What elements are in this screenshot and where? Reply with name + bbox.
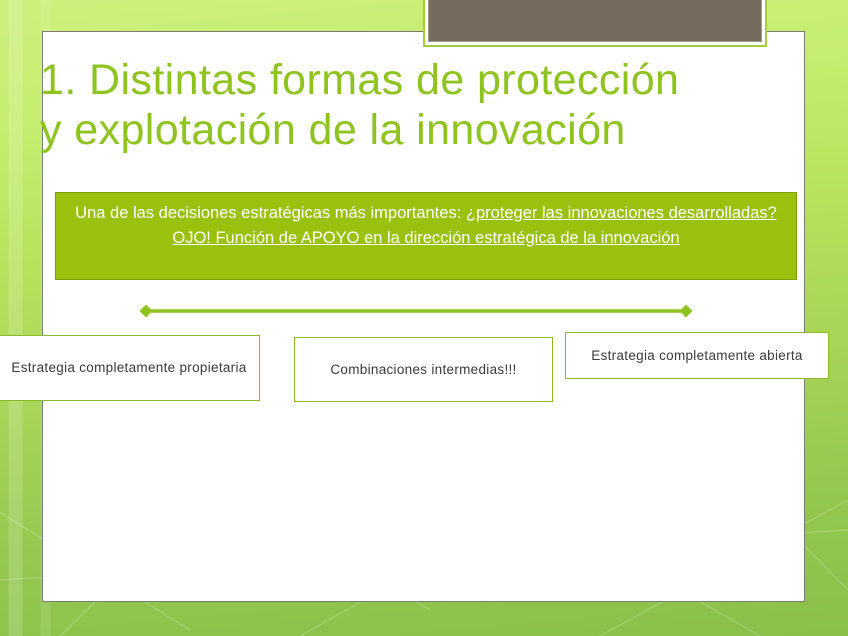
picture-placeholder-frame — [423, 0, 767, 47]
double-diamond-arrow-icon — [138, 303, 694, 319]
page-title: 1. Distintas formas de protección y expl… — [40, 55, 810, 155]
banner-lead-text: Una de las decisiones estratégicas más i… — [75, 204, 466, 222]
node-strategy-open[interactable]: Estrategia completamente abierta — [565, 332, 829, 379]
node-strategy-intermediate[interactable]: Combinaciones intermedias!!! — [294, 337, 553, 402]
slide-canvas: 1. Distintas formas de protección y expl… — [0, 0, 848, 636]
node-strategy-proprietary[interactable]: Estrategia completamente propietaria — [0, 335, 260, 401]
node-label: Estrategia completamente abierta — [591, 347, 802, 365]
key-message-banner: Una de las decisiones estratégicas más i… — [55, 192, 797, 280]
node-label: Estrategia completamente propietaria — [11, 359, 246, 377]
picture-placeholder — [428, 0, 762, 42]
node-label: Combinaciones intermedias!!! — [330, 361, 516, 379]
